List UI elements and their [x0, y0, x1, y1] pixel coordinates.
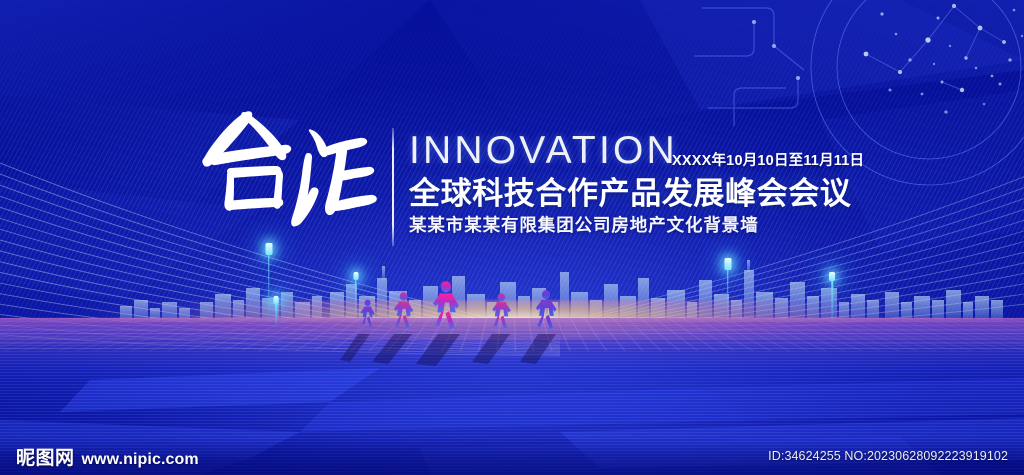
watermark-bar: 昵图网 www.nipic.com ID:34624255 NO:2023062… [0, 437, 1024, 475]
poster-canvas: INNOVATION XXXX年10月10日至11月11日 全球科技合作产品发展… [0, 0, 1024, 475]
main-title: 全球科技合作产品发展峰会会议 [409, 176, 851, 212]
text-content: INNOVATION XXXX年10月10日至11月11日 全球科技合作产品发展… [0, 0, 1024, 475]
subtitle: 某某市某某有限集团公司房地产文化背景墙 [409, 214, 759, 236]
event-date: XXXX年10月10日至11月11日 [672, 149, 864, 170]
image-id-text: ID:34624255 NO:20230628092223919102 [768, 449, 1008, 463]
nipic-url[interactable]: www.nipic.com [82, 451, 199, 470]
nipic-logo: 昵图网 [16, 443, 75, 470]
calligraphy-heziuo [196, 96, 386, 246]
title-divider [392, 128, 394, 246]
watermark-brand[interactable]: 昵图网 www.nipic.com [16, 443, 199, 470]
english-title: INNOVATION [409, 130, 678, 172]
